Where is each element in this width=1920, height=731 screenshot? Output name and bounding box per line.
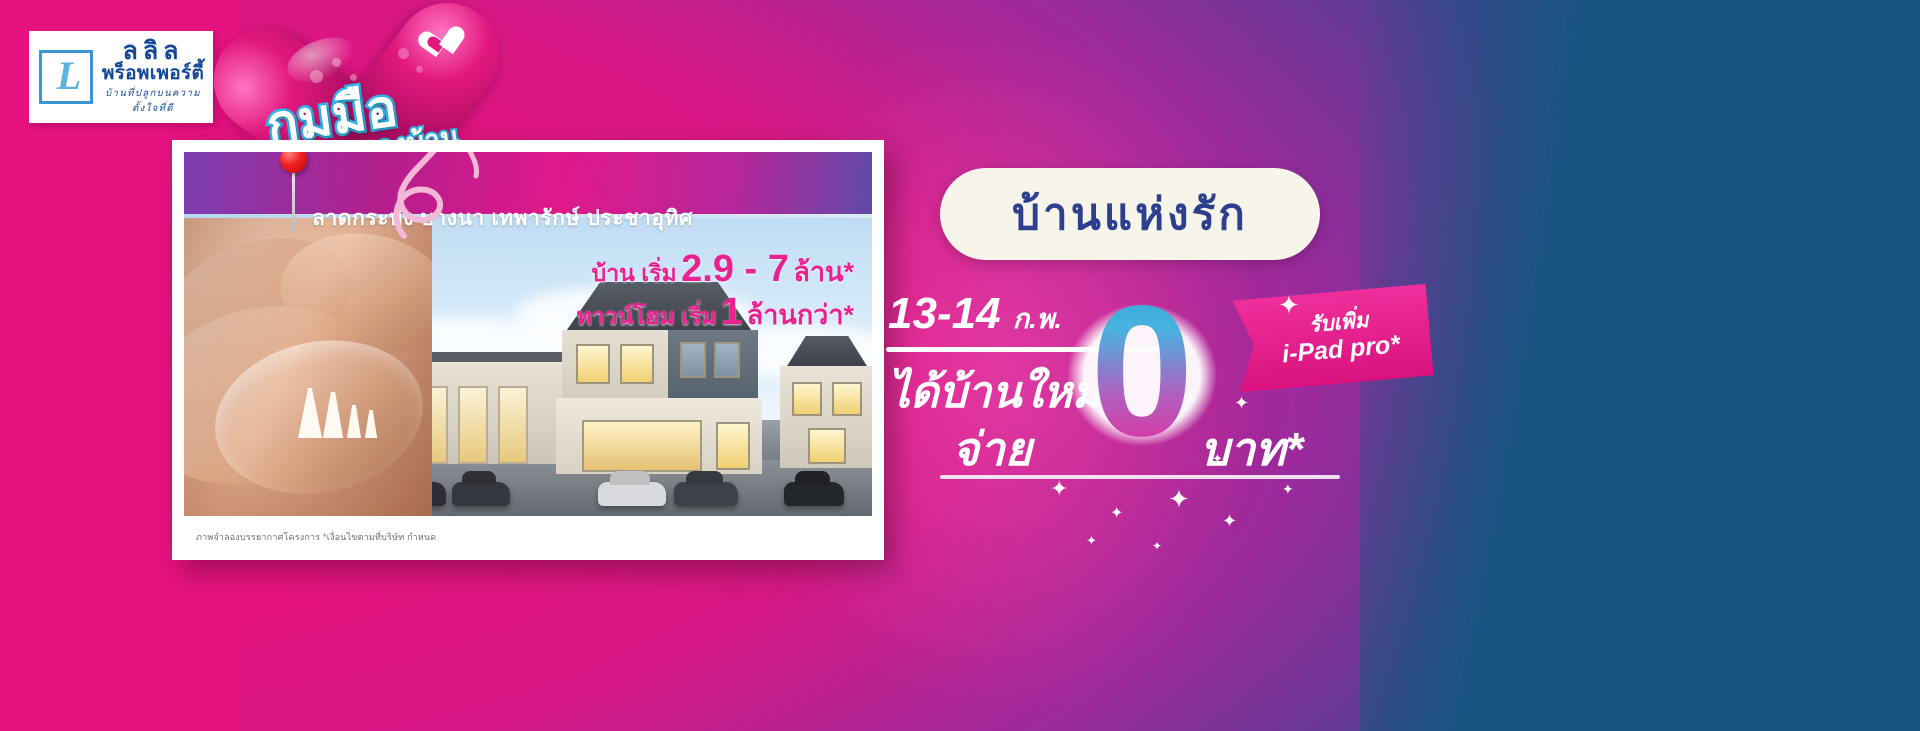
- bonus-flag: รับเพิ่ม i-Pad pro*: [1232, 284, 1433, 393]
- paper-family-cutout-icon: [296, 364, 400, 438]
- brand-name-secondary: พร็อพเพอร์ตี้: [101, 64, 205, 84]
- sparkle-icon: ✦: [1212, 452, 1223, 465]
- sparkle-icon: ✦: [1234, 394, 1249, 412]
- townhouse-price-line: ทาวน์โฮม เริ่ม 1 ล้านกว่า*: [577, 291, 854, 334]
- promo-card-image: ลาดกระบัง บางนา เทพารักษ์ ประชาอุทิศ บ้า…: [184, 152, 872, 516]
- promo-card: ลาดกระบัง บางนา เทพารักษ์ ประชาอุทิศ บ้า…: [172, 140, 884, 560]
- house-price-prefix: บ้าน เริ่ม: [592, 260, 677, 286]
- price-block: บ้าน เริ่ม 2.9 - 7 ล้าน* ทาวน์โฮม เริ่ม …: [577, 248, 854, 333]
- house-price-line: บ้าน เริ่ม 2.9 - 7 ล้าน*: [577, 248, 854, 291]
- logo-text-block: ลลิล พร็อพเพอร์ตี้ บ้านที่ปลูกบนความตั้ง…: [101, 38, 205, 116]
- ribbon-icon: [384, 152, 524, 254]
- sparkle-icon: ✦: [1050, 478, 1068, 500]
- heart-bubble-icon: [332, 58, 341, 67]
- offer-date: 13-14 ก.พ.: [888, 289, 1062, 340]
- sparkle-icon: ✦: [1278, 292, 1300, 318]
- brand-tagline: บ้านที่ปลูกบนความตั้งใจที่ดี: [101, 86, 205, 116]
- offer-date-range: 13-14: [888, 289, 1001, 338]
- headline-pill: บ้านแห่งรัก: [940, 168, 1320, 260]
- hands-photo: [184, 214, 432, 516]
- townhouse-price-unit: ล้านกว่า*: [747, 300, 854, 330]
- brand-logo[interactable]: L ลลิล พร็อพเพอร์ตี้ บ้านที่ปลูกบนความตั…: [29, 31, 213, 123]
- sparkle-icon: ✦: [1282, 482, 1294, 496]
- headline-text: บ้านแห่งรัก: [1012, 179, 1248, 249]
- card-disclaimer: ภาพจำลองบรรยากาศโครงการ *เงื่อนไขตามที่บ…: [196, 530, 436, 544]
- side-house-illustration: [780, 336, 872, 468]
- brand-name-primary: ลลิล: [101, 40, 205, 64]
- heart-bubble-icon: [416, 66, 423, 73]
- logo-letter: L: [57, 56, 75, 96]
- zero-number: 0: [1042, 272, 1242, 472]
- sparkle-icon: ✦: [1086, 534, 1097, 547]
- car: [674, 482, 738, 506]
- sparkle-icon: ✦: [1222, 512, 1237, 530]
- car: [784, 482, 844, 506]
- sparkle-icon: ✦: [1110, 506, 1123, 522]
- logo-mark-icon: L: [39, 50, 93, 104]
- car: [452, 482, 510, 506]
- sparkle-icon: ✦: [1168, 486, 1190, 512]
- background-right-panel: [1360, 0, 1920, 731]
- bonus-flag-line-2: i-Pad pro*: [1281, 330, 1401, 369]
- zero-graphic: 0 0: [1042, 280, 1242, 470]
- heart-bubble-icon: [398, 48, 409, 59]
- sparkle-icon: ✦: [1152, 540, 1162, 552]
- house-price-value: 2.9 - 7: [681, 248, 789, 290]
- promotional-banner: L ลลิล พร็อพเพอร์ตี้ บ้านที่ปลูกบนความตั…: [0, 0, 1920, 731]
- house-price-unit: ล้าน*: [793, 257, 854, 287]
- divider: [940, 475, 1340, 479]
- mini-heart-icon: [424, 28, 458, 61]
- townhouse-price-prefix: ทาวน์โฮม เริ่ม: [577, 303, 717, 329]
- townhouse-price-value: 1: [721, 291, 742, 333]
- car: [598, 482, 666, 506]
